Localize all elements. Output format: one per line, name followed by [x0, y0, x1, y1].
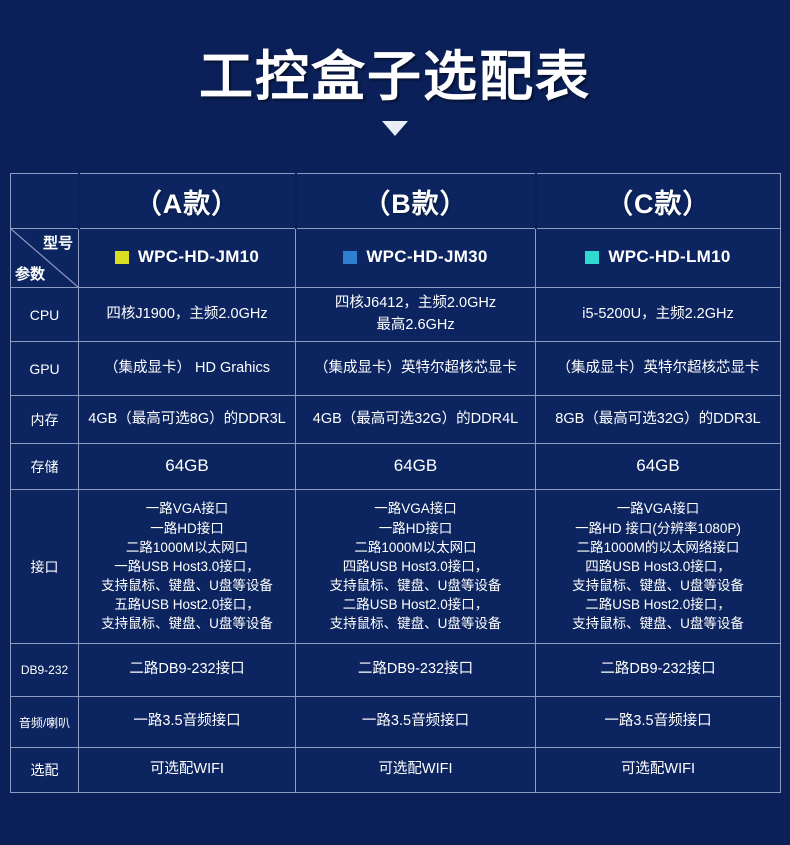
swatch-b-icon	[343, 251, 357, 264]
corner-label-model: 型号	[43, 232, 73, 253]
cell-db9-c: 二路DB9-232接口	[536, 644, 781, 697]
cell-cpu-a: 四核J1900，主频2.0GHz	[79, 288, 296, 342]
cell-audio-a: 一路3.5音频接口	[79, 697, 296, 748]
header-label-c: （C款）	[606, 189, 711, 219]
model-row: 型号 参数 WPC-HD-JM10 WPC-HD-JM30 WPC-HD-LM1…	[11, 229, 781, 288]
header-column-b: （B款）	[296, 174, 536, 229]
table-row: 音频/喇叭 一路3.5音频接口 一路3.5音频接口 一路3.5音频接口	[11, 697, 781, 748]
cell-interfaces-a: 一路VGA接口一路HD接口二路1000M以太网口一路USB Host3.0接口，…	[79, 490, 296, 644]
cell-gpu-c: （集成显卡）英特尔超核芯显卡	[536, 342, 781, 396]
swatch-a-icon	[115, 251, 129, 264]
cell-storage-b: 64GB	[296, 444, 536, 490]
table-row: DB9-232 二路DB9-232接口 二路DB9-232接口 二路DB9-23…	[11, 644, 781, 697]
cell-audio-c: 一路3.5音频接口	[536, 697, 781, 748]
table-row: GPU （集成显卡） HD Grahics （集成显卡）英特尔超核芯显卡 （集成…	[11, 342, 781, 396]
row-label-memory: 内存	[11, 396, 79, 444]
cell-optional-a: 可选配WIFI	[79, 748, 296, 793]
header-column-a: （A款）	[79, 174, 296, 229]
spec-comparison-table: （A款） （B款） （C款） 型号 参数 WPC-HD-JM10	[10, 173, 781, 793]
table-row: 内存 4GB（最高可选8G）的DDR3L 4GB（最高可选32G）的DDR4L …	[11, 396, 781, 444]
header-label-a: （A款）	[135, 189, 240, 219]
cell-storage-a: 64GB	[79, 444, 296, 490]
triangle-down-icon	[382, 121, 408, 136]
model-name-b: WPC-HD-JM30	[366, 247, 487, 267]
row-label-storage: 存储	[11, 444, 79, 490]
title-block: 工控盒子选配表	[0, 0, 790, 136]
table-header-row: （A款） （B款） （C款）	[11, 174, 781, 229]
cell-optional-c: 可选配WIFI	[536, 748, 781, 793]
cell-cpu-c: i5-5200U，主频2.2GHz	[536, 288, 781, 342]
cell-memory-c: 8GB（最高可选32G）的DDR3L	[536, 396, 781, 444]
header-corner-block	[11, 174, 79, 229]
table-row: 选配 可选配WIFI 可选配WIFI 可选配WIFI	[11, 748, 781, 793]
row-label-cpu: CPU	[11, 288, 79, 342]
cell-interfaces-b: 一路VGA接口一路HD接口二路1000M以太网口四路USB Host3.0接口，…	[296, 490, 536, 644]
table-row: 存储 64GB 64GB 64GB	[11, 444, 781, 490]
swatch-c-icon	[585, 251, 599, 264]
cell-interfaces-c: 一路VGA接口一路HD 接口(分辨率1080P)二路1000M的以太网络接口四路…	[536, 490, 781, 644]
header-label-b: （B款）	[363, 189, 468, 219]
table-row: 接口 一路VGA接口一路HD接口二路1000M以太网口一路USB Host3.0…	[11, 490, 781, 644]
header-column-c: （C款）	[536, 174, 781, 229]
row-label-db9: DB9-232	[11, 644, 79, 697]
row-label-audio: 音频/喇叭	[11, 697, 79, 748]
corner-label-param: 参数	[15, 263, 45, 284]
row-label-optional: 选配	[11, 748, 79, 793]
cell-storage-c: 64GB	[536, 444, 781, 490]
cell-db9-a: 二路DB9-232接口	[79, 644, 296, 697]
cell-db9-b: 二路DB9-232接口	[296, 644, 536, 697]
page-title: 工控盒子选配表	[0, 48, 790, 107]
cell-memory-b: 4GB（最高可选32G）的DDR4L	[296, 396, 536, 444]
model-cell-c: WPC-HD-LM10	[536, 229, 781, 288]
model-cell-a: WPC-HD-JM10	[79, 229, 296, 288]
row-label-interfaces: 接口	[11, 490, 79, 644]
model-name-c: WPC-HD-LM10	[608, 247, 730, 267]
model-name-a: WPC-HD-JM10	[138, 247, 259, 267]
table-row: CPU 四核J1900，主频2.0GHz 四核J6412，主频2.0GHz最高2…	[11, 288, 781, 342]
cell-audio-b: 一路3.5音频接口	[296, 697, 536, 748]
cell-gpu-a: （集成显卡） HD Grahics	[79, 342, 296, 396]
cell-cpu-b: 四核J6412，主频2.0GHz最高2.6GHz	[296, 288, 536, 342]
cell-memory-a: 4GB（最高可选8G）的DDR3L	[79, 396, 296, 444]
cell-optional-b: 可选配WIFI	[296, 748, 536, 793]
model-cell-b: WPC-HD-JM30	[296, 229, 536, 288]
corner-diagonal-cell: 型号 参数	[11, 229, 79, 288]
cell-gpu-b: （集成显卡）英特尔超核芯显卡	[296, 342, 536, 396]
row-label-gpu: GPU	[11, 342, 79, 396]
